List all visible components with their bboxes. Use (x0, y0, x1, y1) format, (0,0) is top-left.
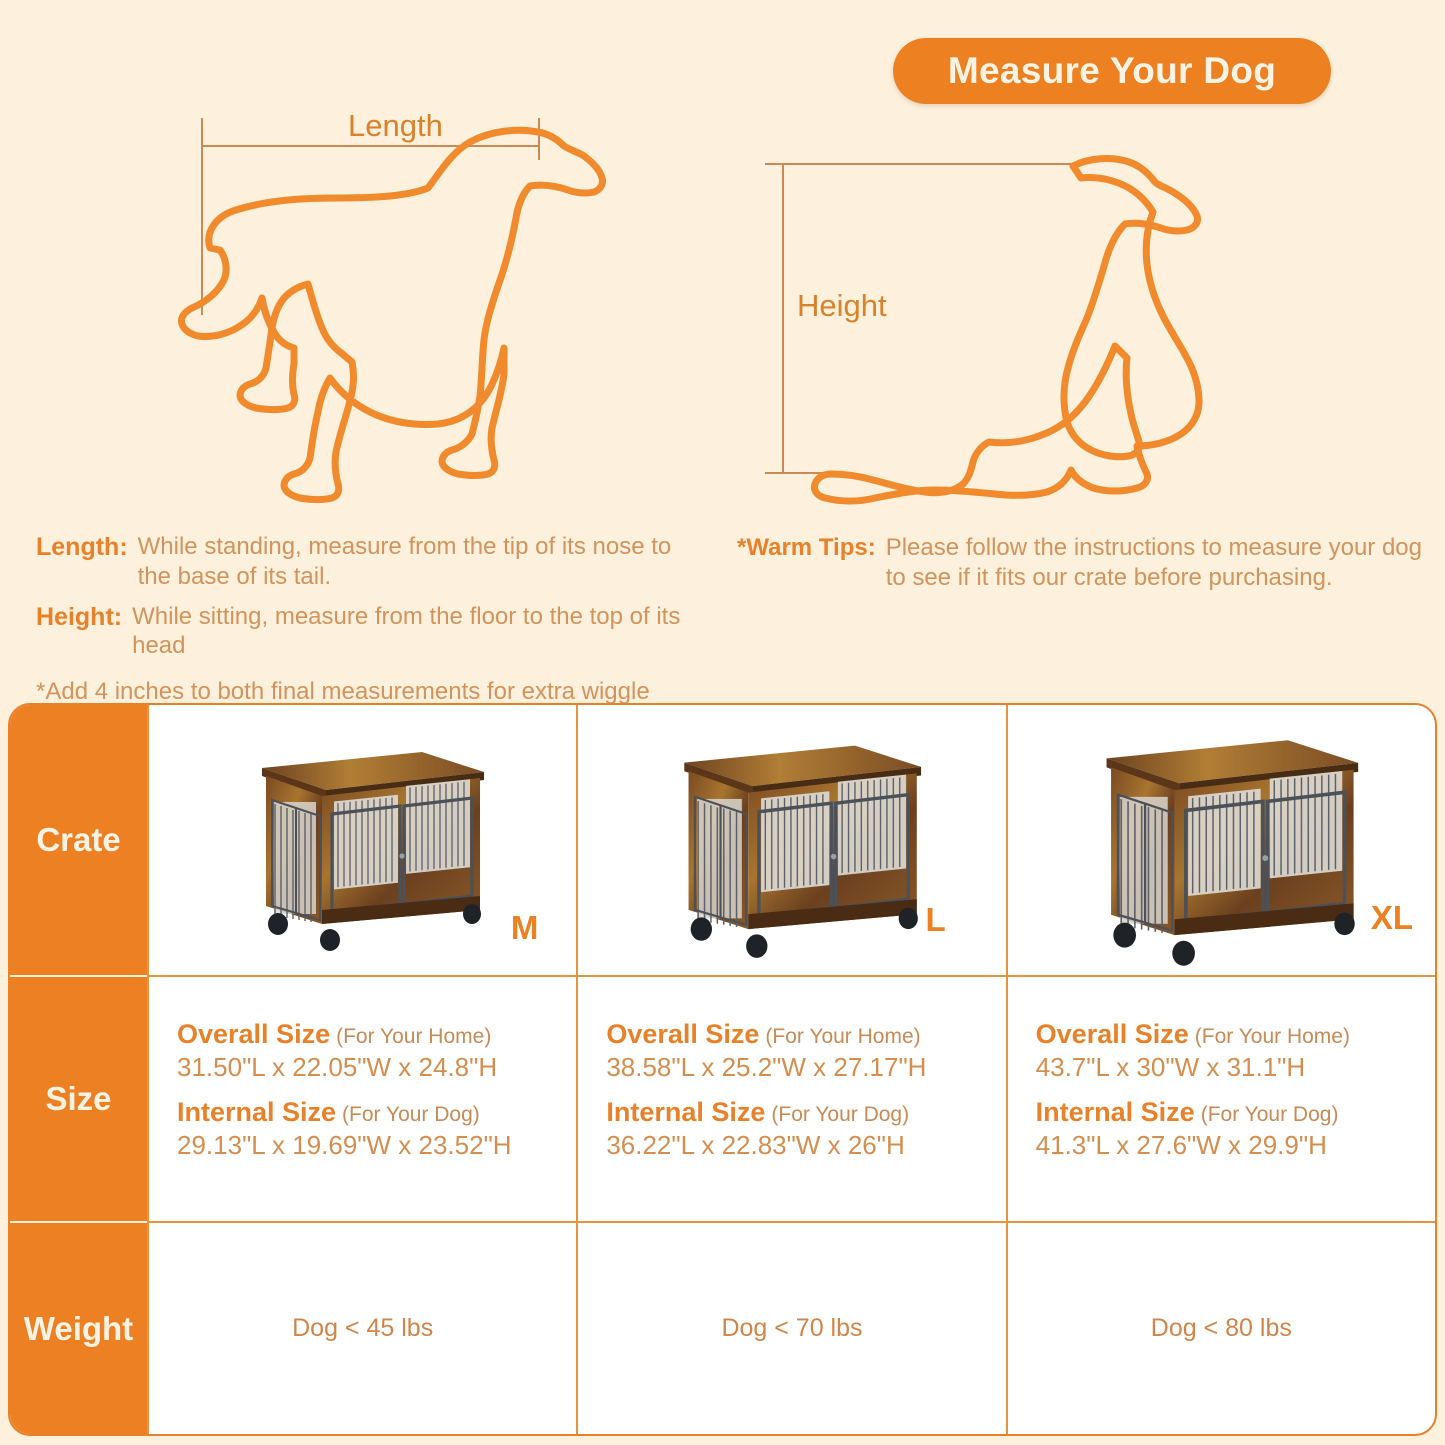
length-diagram (150, 100, 620, 510)
internal-size-label: Internal Size (1036, 1097, 1195, 1127)
overall-size-dims: 43.7"L x 30"W x 31.1"H (1036, 1052, 1435, 1083)
length-instruction-key: Length: (36, 532, 128, 563)
weight-value-l: Dog < 70 lbs (721, 1314, 862, 1343)
table-cell-weight-l: Dog < 70 lbs (576, 1223, 1005, 1434)
table-cell-crate-m: M (147, 705, 576, 977)
page-title: Measure Your Dog (948, 50, 1276, 92)
internal-size-heading: Internal Size(For Your Dog) (606, 1097, 1005, 1128)
overall-size-note: (For Your Home) (336, 1025, 491, 1048)
internal-size-dims: 29.13"L x 19.69"W x 23.52"H (177, 1130, 576, 1161)
measure-guide-section: Measure Your Dog Length Heigh (0, 0, 1445, 700)
overall-size-note: (For Your Home) (1195, 1025, 1350, 1048)
length-instruction-text: While standing, measure from the tip of … (138, 532, 706, 592)
internal-size-note: (For Your Dog) (342, 1103, 480, 1126)
row-label-weight: Weight (10, 1223, 147, 1434)
length-measurement-label: Length (348, 108, 443, 144)
warm-tips-key: *Warm Tips: (737, 533, 876, 563)
table-cell-size-m: Overall Size(For Your Home) 31.50"L x 22… (147, 977, 576, 1223)
height-instruction-text: While sitting, measure from the floor to… (132, 602, 706, 662)
row-label-crate: Crate (10, 705, 147, 977)
size-badge-m: M (511, 909, 539, 947)
table-cell-crate-l: L (576, 705, 1005, 977)
table-cell-weight-xl: Dog < 80 lbs (1006, 1223, 1435, 1434)
overall-size-heading: Overall Size(For Your Home) (606, 1019, 1005, 1050)
weight-value-m: Dog < 45 lbs (292, 1314, 433, 1343)
table-cell-crate-xl: XL (1006, 705, 1435, 977)
length-instruction-row: Length: While standing, measure from the… (36, 532, 706, 592)
table-cell-weight-m: Dog < 45 lbs (147, 1223, 576, 1434)
internal-size-heading: Internal Size(For Your Dog) (177, 1097, 576, 1128)
internal-size-note: (For Your Dog) (771, 1103, 909, 1126)
weight-value-xl: Dog < 80 lbs (1151, 1314, 1292, 1343)
size-badge-xl: XL (1371, 899, 1413, 937)
overall-size-label: Overall Size (1036, 1019, 1189, 1049)
internal-size-note: (For Your Dog) (1201, 1103, 1339, 1126)
internal-size-label: Internal Size (177, 1097, 336, 1127)
table-cell-size-l: Overall Size(For Your Home) 38.58"L x 25… (576, 977, 1005, 1223)
crate-size-table: Crate (8, 703, 1437, 1436)
row-label-size: Size (10, 977, 147, 1223)
internal-size-heading: Internal Size(For Your Dog) (1036, 1097, 1435, 1128)
overall-size-heading: Overall Size(For Your Home) (177, 1019, 576, 1050)
overall-size-heading: Overall Size(For Your Home) (1036, 1019, 1435, 1050)
table-cell-size-xl: Overall Size(For Your Home) 43.7"L x 30"… (1006, 977, 1435, 1223)
warm-tips-row: *Warm Tips: Please follow the instructio… (737, 533, 1427, 593)
size-badge-l: L (925, 901, 945, 939)
height-measurement-label: Height (797, 288, 887, 324)
overall-size-dims: 31.50"L x 22.05"W x 24.8"H (177, 1052, 576, 1083)
section-title-badge: Measure Your Dog (893, 38, 1331, 104)
height-instruction-row: Height: While sitting, measure from the … (36, 602, 706, 662)
height-instruction-key: Height: (36, 602, 122, 633)
height-diagram (755, 140, 1225, 510)
dog-crate-furniture-icon (1062, 713, 1380, 968)
dog-standing-outline-icon (150, 100, 620, 510)
internal-size-label: Internal Size (606, 1097, 765, 1127)
overall-size-label: Overall Size (177, 1019, 330, 1049)
internal-size-dims: 41.3"L x 27.6"W x 29.9"H (1036, 1130, 1435, 1161)
dog-crate-furniture-icon (648, 720, 936, 960)
dog-crate-furniture-icon (234, 728, 492, 953)
internal-size-dims: 36.22"L x 22.83"W x 26"H (606, 1130, 1005, 1161)
overall-size-note: (For Your Home) (765, 1025, 920, 1048)
overall-size-dims: 38.58"L x 25.2"W x 27.17"H (606, 1052, 1005, 1083)
warm-tips-text: Please follow the instructions to measur… (886, 533, 1427, 593)
warm-tips: *Warm Tips: Please follow the instructio… (737, 533, 1427, 603)
overall-size-label: Overall Size (606, 1019, 759, 1049)
dog-sitting-outline-icon (755, 140, 1225, 510)
